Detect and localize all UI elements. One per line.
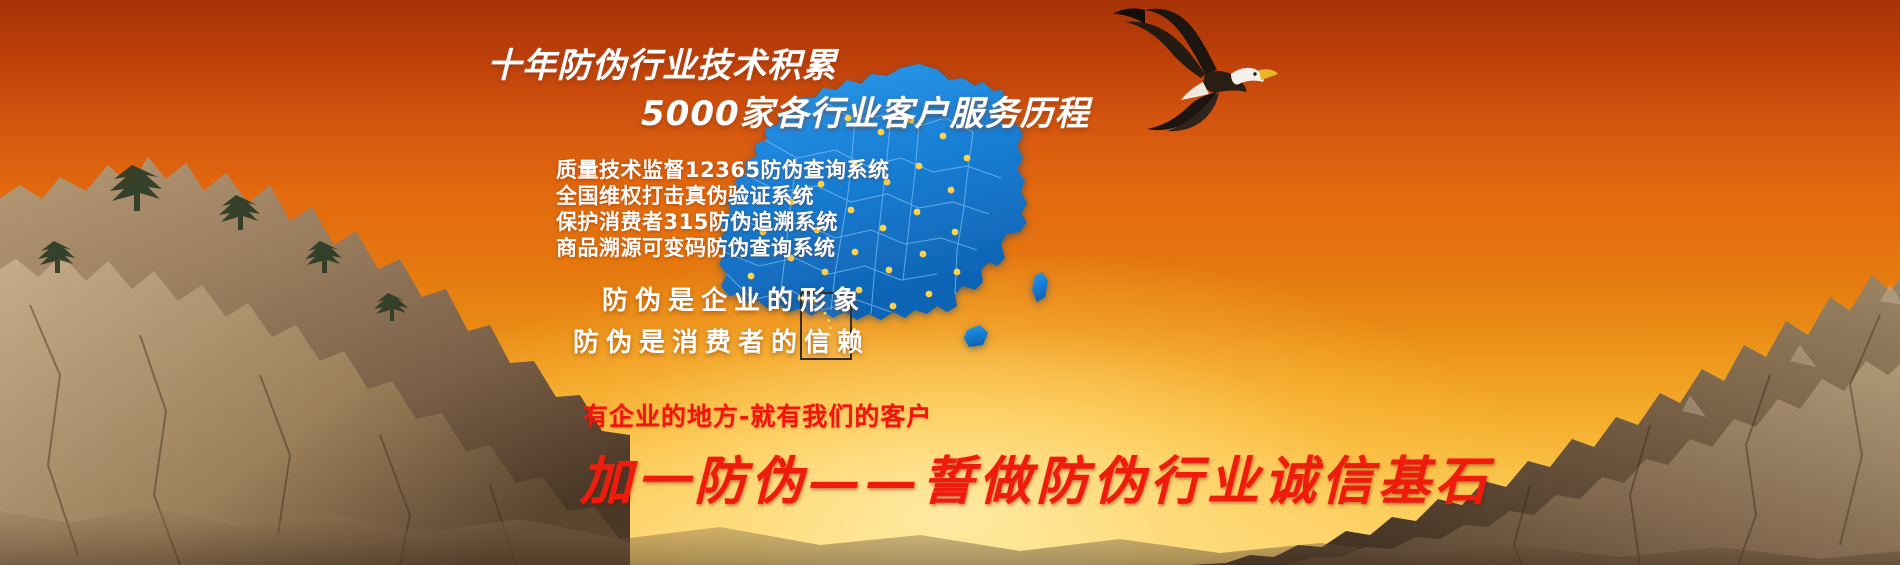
- banner-copy: 十年防伪行业技术积累 5000家各行业客户服务历程 质量技术监督12365防伪查…: [0, 0, 1900, 565]
- feature-list-item-3: 保护消费者315防伪追溯系统: [556, 209, 890, 235]
- feature-list-item-1: 质量技术监督12365防伪查询系统: [556, 157, 890, 183]
- feature-list-item-2: 全国维权打击真伪验证系统: [556, 183, 890, 209]
- slogan-line-2: 防伪是消费者的信赖: [573, 330, 870, 356]
- slogan-line-1: 防伪是企业的形象: [602, 288, 866, 314]
- feature-list: 质量技术监督12365防伪查询系统 全国维权打击真伪验证系统 保护消费者315防…: [556, 157, 890, 261]
- headline-line-1: 十年防伪行业技术积累: [487, 49, 837, 83]
- feature-list-item-4: 商品溯源可变码防伪查询系统: [556, 235, 890, 261]
- headline-line-2: 5000家各行业客户服务历程: [641, 97, 1090, 131]
- promo-banner: 十年防伪行业技术积累 5000家各行业客户服务历程 质量技术监督12365防伪查…: [0, 0, 1900, 565]
- red-tagline: 有企业的地方-就有我们的客户: [583, 404, 932, 429]
- big-red-headline: 加一防伪——誓做防伪行业诚信基石: [580, 455, 1492, 510]
